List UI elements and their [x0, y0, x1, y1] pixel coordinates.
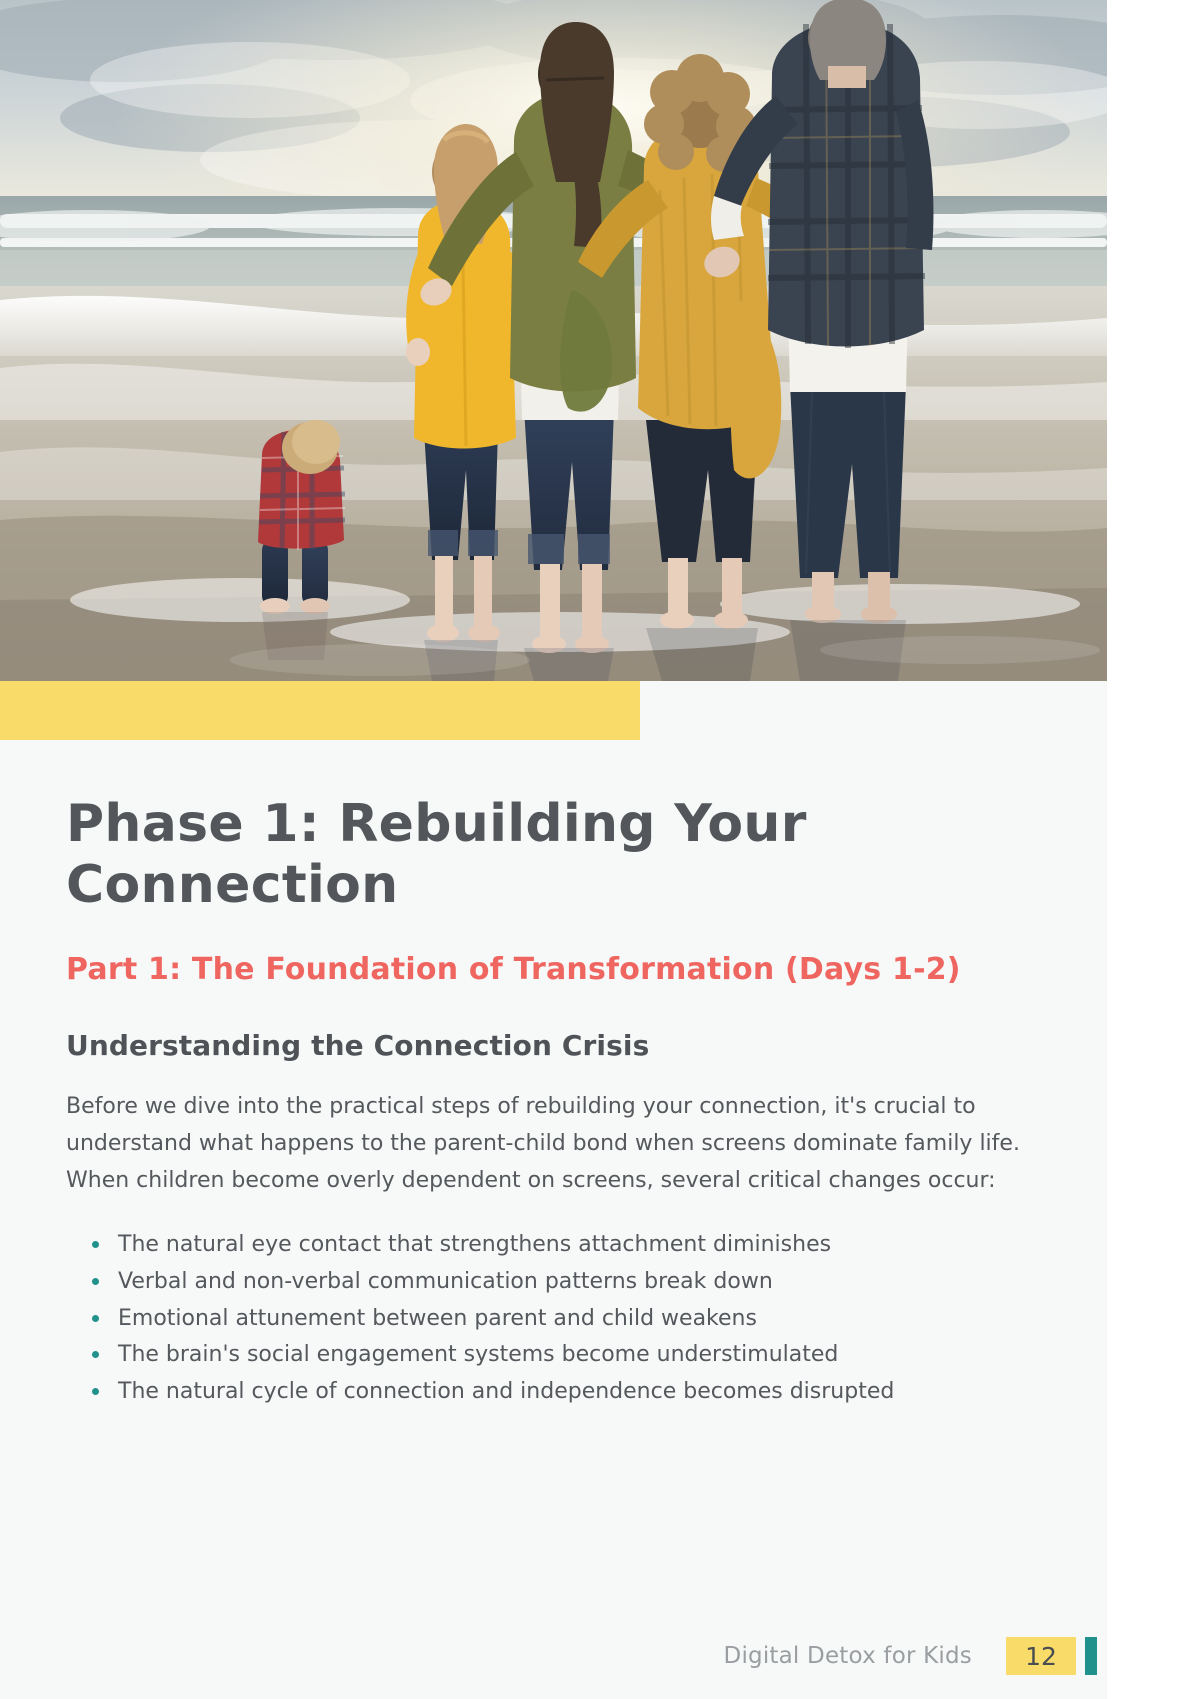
list-item-label: The natural eye contact that strengthens… [118, 1232, 831, 1257]
document-page: Phase 1: Rebuilding Your Connection Part… [0, 0, 1107, 1699]
section-heading: Understanding the Connection Crisis [66, 988, 1041, 1064]
list-item-label: Verbal and non-verbal communication patt… [118, 1269, 773, 1294]
list-item-label: Emotional attunement between parent and … [118, 1306, 757, 1331]
hero-photo [0, 0, 1107, 681]
list-item-label: The natural cycle of connection and inde… [118, 1379, 894, 1404]
list-item: Emotional attunement between parent and … [90, 1301, 1041, 1338]
page-title: Phase 1: Rebuilding Your Connection [66, 740, 826, 917]
effects-bullet-list: The natural eye contact that strengthens… [66, 1199, 1041, 1410]
page-number-badge: 12 [1006, 1637, 1076, 1675]
bullet-dot-icon [92, 1241, 99, 1248]
page-content: Phase 1: Rebuilding Your Connection Part… [0, 740, 1107, 1410]
list-item-label: The brain's social engagement systems be… [118, 1342, 838, 1367]
list-item: The natural cycle of connection and inde… [90, 1374, 1041, 1411]
yellow-accent-bar [0, 681, 640, 740]
page-footer: Digital Detox for Kids 12 [0, 1613, 1107, 1699]
part-heading: Part 1: The Foundation of Transformation… [66, 917, 1006, 989]
bullet-dot-icon [92, 1278, 99, 1285]
footer-teal-tab-icon [1085, 1637, 1097, 1675]
list-item: The brain's social engagement systems be… [90, 1337, 1041, 1374]
list-item: Verbal and non-verbal communication patt… [90, 1264, 1041, 1301]
bullet-dot-icon [92, 1315, 99, 1322]
bullet-dot-icon [92, 1351, 99, 1358]
footer-document-title: Digital Detox for Kids [724, 1643, 1006, 1669]
bullet-dot-icon [92, 1388, 99, 1395]
list-item: The natural eye contact that strengthens… [90, 1227, 1041, 1264]
body-paragraph: Before we dive into the practical steps … [66, 1065, 1041, 1200]
beach-family-illustration [0, 0, 1107, 681]
